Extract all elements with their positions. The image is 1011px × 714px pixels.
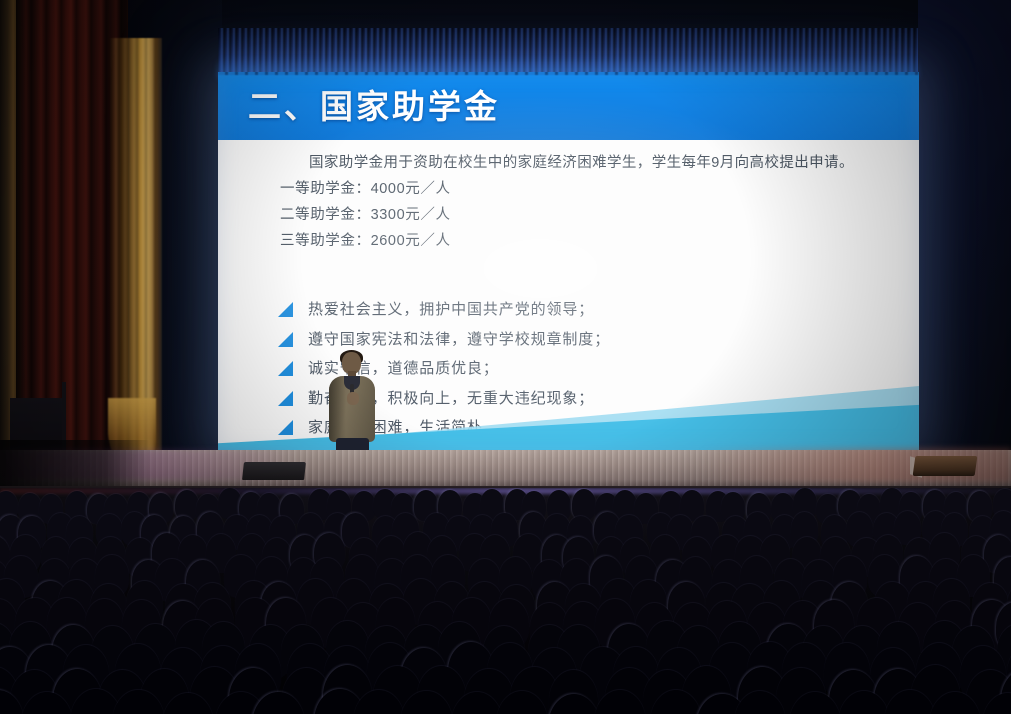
stage-monitor-right [913,456,978,476]
audience-head [572,489,596,519]
triangle-bullet-icon [278,361,293,376]
audience-rim-light [0,488,1011,494]
presenter-hands [347,392,359,405]
grant-amount-tier-2: 二等助学金：3300元／人 [280,202,886,228]
list-item: 热爱社会主义，拥护中国共产党的领导； [276,298,896,321]
grant-amount-tier-1: 一等助学金：4000元／人 [280,176,886,202]
slide-paragraph-block: 国家助学金用于资助在校生中的家庭经济困难学生，学生每年9月向高校提出申请。 一等… [280,150,886,254]
triangle-bullet-icon [278,420,293,435]
audience-crowd [0,488,1011,714]
grant-amount-tier-3: 三等助学金：2600元／人 [280,228,886,254]
auditorium-photo: 二、国家助学金 国家助学金用于资助在校生中的家庭经济困难学生，学生每年9月向高校… [0,0,1011,714]
slide-paragraph: 国家助学金用于资助在校生中的家庭经济困难学生，学生每年9月向高校提出申请。 [280,150,886,176]
presenter-coat-shadow [329,376,346,442]
slide-title: 二、国家助学金 [248,78,500,136]
list-item-label: 遵守国家宪法和法律，遵守学校规章制度； [308,331,610,348]
stage-monitor-left [242,462,306,480]
triangle-bullet-icon [278,391,293,406]
slide-title-bar: 二、国家助学金 [218,72,919,140]
list-item-label: 热爱社会主义，拥护中国共产党的领导； [308,301,594,318]
stage-wall-right [918,0,1011,478]
triangle-bullet-icon [278,332,293,347]
list-item: 遵守国家宪法和法律，遵守学校规章制度； [276,328,896,351]
title-bar-top-edge [218,72,919,75]
triangle-bullet-icon [278,302,293,317]
stage-shadow-left [0,440,150,488]
